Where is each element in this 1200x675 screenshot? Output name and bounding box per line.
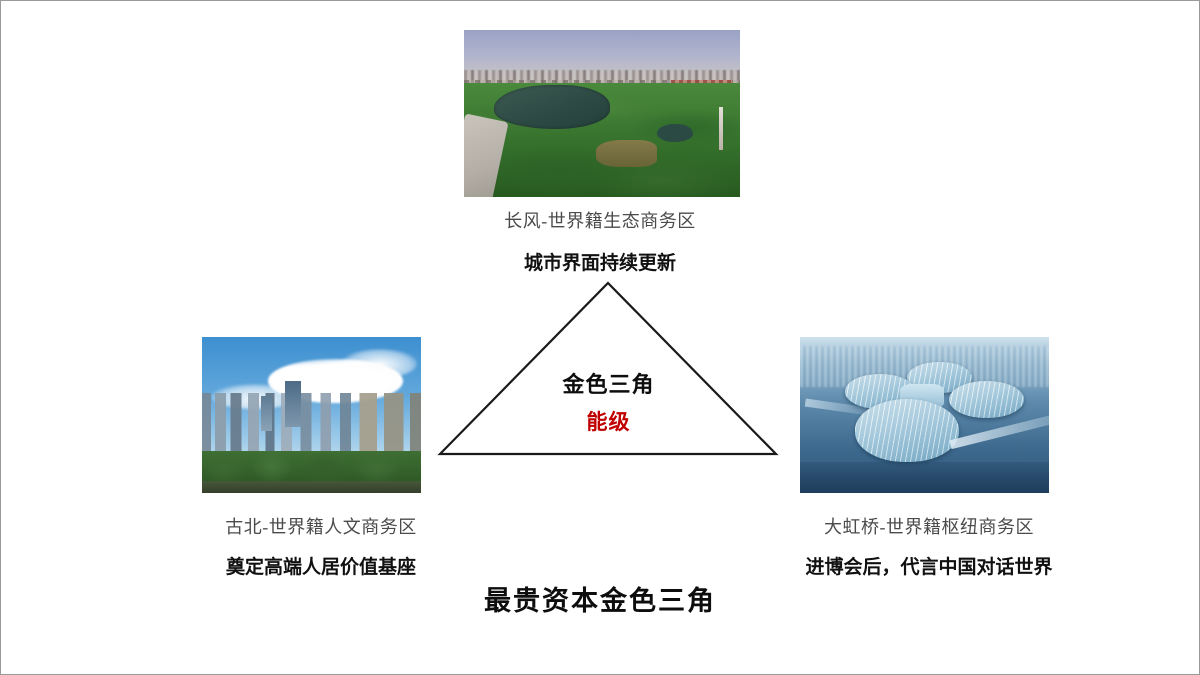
chimney-layer bbox=[719, 107, 723, 150]
skyscrapers-layer bbox=[202, 393, 421, 452]
pond-layer bbox=[657, 124, 693, 142]
foreground-layer bbox=[202, 481, 421, 493]
roof-ribs bbox=[855, 399, 960, 461]
second-tower-layer bbox=[261, 396, 272, 430]
lake-layer bbox=[494, 85, 610, 128]
triangle-title: 金色三角 bbox=[426, 367, 791, 399]
clover-lobe-south bbox=[855, 399, 960, 461]
photo-gubei-scene bbox=[202, 337, 421, 493]
golden-triangle-diagram: 金色三角 能级 bbox=[426, 271, 791, 471]
photo-gubei-skyline bbox=[202, 337, 421, 493]
caption-gubei: 古北-世界籍人文商务区 bbox=[161, 513, 481, 539]
foreground-layer bbox=[800, 462, 1049, 493]
caption-changfeng: 长风-世界籍生态商务区 bbox=[1, 207, 1199, 233]
subcaption-gubei: 奠定高端人居价值基座 bbox=[161, 552, 481, 579]
photo-hongqiao-scene bbox=[800, 337, 1049, 493]
photo-changfeng-park bbox=[464, 30, 740, 197]
tall-tower-layer bbox=[285, 381, 300, 428]
triangle-subtitle: 能级 bbox=[426, 406, 791, 436]
slide-headline: 最贵资本金色三角 bbox=[1, 579, 1199, 618]
clover-lobe-east bbox=[949, 381, 1024, 418]
roof-ribs bbox=[949, 381, 1024, 418]
caption-hongqiao: 大虹桥-世界籍枢纽商务区 bbox=[764, 513, 1094, 539]
photo-changfeng-scene bbox=[464, 30, 740, 197]
subcaption-hongqiao: 进博会后，代言中国对话世界 bbox=[764, 552, 1094, 579]
presentation-slide: 长风-世界籍生态商务区 城市界面持续更新 金色三角 能级 古北-世界籍人文商务区… bbox=[0, 0, 1200, 675]
photo-hongqiao-convention-center bbox=[800, 337, 1049, 493]
clearing-layer bbox=[596, 140, 657, 167]
